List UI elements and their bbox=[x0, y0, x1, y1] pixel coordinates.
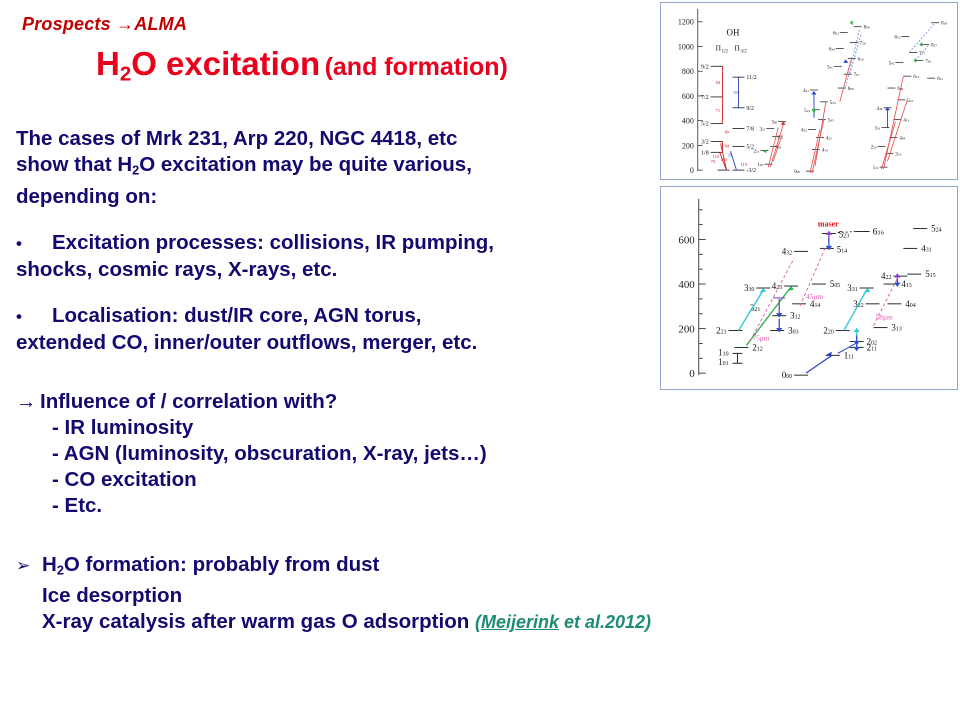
dash-item-ir-luminosity: - IR luminosity bbox=[16, 415, 656, 441]
svg-text:441: 441 bbox=[803, 89, 809, 94]
svg-text:331: 331 bbox=[875, 127, 881, 132]
svg-text:53: 53 bbox=[734, 90, 739, 95]
formation-heading: H2O formation: probably from dust bbox=[16, 552, 656, 584]
svg-text:111: 111 bbox=[873, 166, 879, 171]
svg-text:541: 541 bbox=[827, 65, 833, 70]
svg-text:505: 505 bbox=[830, 279, 840, 289]
svg-text:800: 800 bbox=[682, 67, 694, 76]
formation-xray-text: X-ray catalysis after warm gas O adsorpt… bbox=[42, 610, 475, 633]
svg-text:600: 600 bbox=[678, 234, 695, 246]
slide-canvas: Prospects →ALMA H2O excitation (and form… bbox=[0, 0, 960, 720]
svg-text:616: 616 bbox=[873, 227, 885, 238]
svg-text:431: 431 bbox=[921, 243, 931, 253]
svg-text:413: 413 bbox=[903, 119, 909, 124]
svg-text:1/8: 1/8 bbox=[701, 150, 709, 156]
svg-text:1200: 1200 bbox=[678, 18, 694, 27]
formation-xray-catalysis: X-ray catalysis after warm gas O adsorpt… bbox=[16, 609, 656, 635]
slide-header-prospects: Prospects →ALMA bbox=[22, 14, 187, 35]
title-rest: O excitation bbox=[131, 45, 320, 82]
formation-subscript: 2 bbox=[57, 562, 64, 577]
svg-text:542: 542 bbox=[889, 61, 895, 66]
svg-text:71: 71 bbox=[716, 108, 720, 113]
svg-text:321: 321 bbox=[759, 128, 765, 133]
svg-text:000: 000 bbox=[794, 170, 800, 175]
svg-text:523: 523 bbox=[830, 101, 836, 106]
h2o-diagram-svg: 0 200 400 600 110 101 000 bbox=[661, 187, 957, 389]
svg-text:3/2: 3/2 bbox=[740, 49, 747, 54]
svg-text:331: 331 bbox=[847, 283, 857, 293]
spacer bbox=[16, 283, 656, 303]
bullet-dot-icon bbox=[16, 303, 52, 330]
svg-text:200: 200 bbox=[678, 324, 695, 336]
page-title: H2O excitation (and formation) bbox=[96, 45, 508, 87]
svg-text:404: 404 bbox=[899, 136, 905, 141]
svg-text:652: 652 bbox=[833, 32, 839, 37]
svg-text:212: 212 bbox=[752, 342, 762, 352]
citation-author-link[interactable]: Meijerink bbox=[481, 612, 559, 632]
svg-text:524: 524 bbox=[931, 224, 941, 234]
wavelength-58um: 58μm bbox=[876, 313, 893, 322]
svg-text:35: 35 bbox=[728, 152, 733, 157]
intro-line-1: The cases of Mrk 231, Arp 220, NGC 4418,… bbox=[16, 126, 656, 152]
svg-text:119: 119 bbox=[740, 162, 747, 167]
svg-text:11/2: 11/2 bbox=[746, 75, 756, 81]
svg-text:606: 606 bbox=[848, 87, 854, 92]
svg-text:653: 653 bbox=[895, 36, 901, 41]
bullet-excitation-processes: Excitation processes: collisions, IR pum… bbox=[16, 230, 656, 257]
svg-text:726: 726 bbox=[860, 42, 866, 47]
bullet-localisation: Localisation: dust/IR core, AGN torus, bbox=[16, 303, 656, 330]
formation-heading-a: H bbox=[42, 553, 57, 576]
svg-text:808: 808 bbox=[864, 26, 870, 31]
bullet-excitation-line1: Excitation processes: collisions, IR pum… bbox=[52, 231, 494, 254]
svg-text:1/2: 1/2 bbox=[722, 49, 729, 54]
intro-line-2: show that H2O excitation may be quite va… bbox=[16, 152, 656, 184]
svg-text:80: 80 bbox=[725, 130, 730, 135]
svg-text:3/2: 3/2 bbox=[701, 139, 709, 145]
svg-text:514: 514 bbox=[804, 109, 810, 114]
intro-line-2b: O excitation may be quite various, bbox=[139, 153, 472, 176]
formation-ice-desorption: Ice desorption bbox=[16, 583, 656, 609]
wavelength-75um: 75μm bbox=[752, 333, 769, 342]
svg-text:221: 221 bbox=[753, 149, 759, 154]
intro-line-2a: show that H bbox=[16, 153, 132, 176]
svg-text:400: 400 bbox=[678, 279, 695, 291]
svg-text:505: 505 bbox=[828, 119, 834, 124]
svg-text:312: 312 bbox=[790, 311, 800, 321]
oh-molecule-label: OH bbox=[727, 28, 740, 38]
bullet-excitation-line2: shocks, cosmic rays, X-rays, etc. bbox=[16, 257, 656, 283]
svg-text:422: 422 bbox=[881, 271, 891, 281]
svg-text:600: 600 bbox=[682, 92, 694, 101]
svg-text:330: 330 bbox=[744, 283, 754, 293]
spacer bbox=[16, 539, 656, 552]
svg-text:9/2: 9/2 bbox=[701, 64, 709, 70]
svg-text:432: 432 bbox=[801, 129, 807, 134]
svg-text:616: 616 bbox=[858, 57, 864, 62]
svg-text:7/2: 7/2 bbox=[701, 95, 709, 101]
citation: (Meijerink et al.2012) bbox=[475, 612, 651, 632]
svg-text:651: 651 bbox=[937, 77, 943, 82]
spacer bbox=[16, 519, 656, 539]
title-parenthetical: (and formation) bbox=[325, 53, 508, 81]
svg-text:79: 79 bbox=[711, 159, 716, 164]
svg-text:404: 404 bbox=[905, 299, 915, 309]
svg-text:523: 523 bbox=[839, 230, 849, 240]
svg-text:414: 414 bbox=[822, 148, 828, 153]
figure-h2o-level-diagram: 0 200 400 600 110 101 000 bbox=[660, 186, 958, 390]
svg-text:84: 84 bbox=[716, 80, 721, 85]
svg-text:110: 110 bbox=[718, 347, 728, 357]
dash-item-agn: - AGN (luminosity, obscuration, X-ray, j… bbox=[16, 441, 656, 467]
svg-text:163: 163 bbox=[721, 157, 728, 162]
title-h: H bbox=[96, 45, 120, 82]
svg-text:515: 515 bbox=[907, 99, 913, 104]
svg-text:313: 313 bbox=[895, 152, 901, 157]
svg-text:5/2: 5/2 bbox=[701, 122, 709, 128]
dash-item-co-excitation: - CO excitation bbox=[16, 467, 656, 493]
svg-text:220: 220 bbox=[823, 326, 833, 336]
svg-text:000: 000 bbox=[782, 370, 792, 380]
svg-text:119: 119 bbox=[713, 154, 720, 159]
slide-body: The cases of Mrk 231, Arp 220, NGC 4418,… bbox=[16, 126, 656, 635]
svg-text:303: 303 bbox=[788, 326, 798, 336]
citation-rest: et al.2012) bbox=[559, 612, 651, 632]
figure-oh-h2o-energy-ladder: 0 200 400 600 800 1000 1200 OH Π1/2 Π3/2 bbox=[660, 2, 958, 180]
svg-text:817: 817 bbox=[931, 44, 937, 49]
svg-text:101: 101 bbox=[718, 357, 728, 367]
svg-text:707: 707 bbox=[854, 73, 860, 78]
svg-text:-3/2: -3/2 bbox=[746, 168, 756, 174]
svg-text:400: 400 bbox=[682, 117, 694, 126]
svg-text:432: 432 bbox=[782, 246, 792, 256]
maser-label-left: maser bbox=[818, 220, 839, 229]
svg-text:102: 102 bbox=[757, 163, 763, 168]
wavelength-45um: 45μm bbox=[806, 292, 823, 301]
oh-diagram-svg: 0 200 400 600 800 1000 1200 OH Π1/2 Π3/2 bbox=[661, 3, 957, 179]
svg-text:111: 111 bbox=[844, 350, 854, 360]
svg-text:7/8: 7/8 bbox=[746, 127, 754, 133]
svg-text:514: 514 bbox=[837, 244, 847, 254]
bullet-dot-icon bbox=[16, 230, 52, 257]
svg-text:818: 818 bbox=[941, 22, 947, 27]
dash-item-etc: - Etc. bbox=[16, 493, 656, 519]
svg-text:515: 515 bbox=[925, 269, 935, 279]
svg-text:200: 200 bbox=[682, 141, 694, 150]
svg-text:726: 726 bbox=[925, 59, 931, 64]
arrow-influence-heading: Influence of / correlation with? bbox=[16, 389, 656, 415]
svg-text:423: 423 bbox=[772, 281, 782, 291]
svg-text:413: 413 bbox=[901, 279, 911, 289]
svg-text:221: 221 bbox=[716, 326, 726, 336]
spacer bbox=[16, 356, 656, 376]
svg-text:84: 84 bbox=[725, 143, 730, 148]
svg-text:422: 422 bbox=[826, 136, 832, 141]
bullet-localisation-line1: Localisation: dust/IR core, AGN torus, bbox=[52, 304, 421, 327]
spacer bbox=[16, 210, 656, 230]
svg-text:440: 440 bbox=[877, 107, 883, 112]
spacer bbox=[16, 376, 656, 389]
title-subscript: 2 bbox=[120, 63, 131, 86]
bullet-localisation-line2: extended CO, inner/outer outflows, merge… bbox=[16, 330, 656, 356]
formation-heading-b: O formation: probably from dust bbox=[64, 553, 379, 576]
svg-text:330: 330 bbox=[771, 121, 777, 126]
svg-text:615: 615 bbox=[913, 75, 919, 80]
svg-text:202: 202 bbox=[867, 336, 877, 346]
intro-line-3: depending on: bbox=[16, 184, 656, 210]
svg-text:220: 220 bbox=[871, 145, 877, 150]
svg-text:0: 0 bbox=[689, 368, 695, 380]
svg-text:0: 0 bbox=[690, 166, 694, 175]
svg-text:1000: 1000 bbox=[678, 42, 694, 51]
svg-text:9/2: 9/2 bbox=[746, 106, 754, 112]
svg-text:634: 634 bbox=[829, 47, 835, 52]
svg-text:313: 313 bbox=[891, 323, 901, 333]
